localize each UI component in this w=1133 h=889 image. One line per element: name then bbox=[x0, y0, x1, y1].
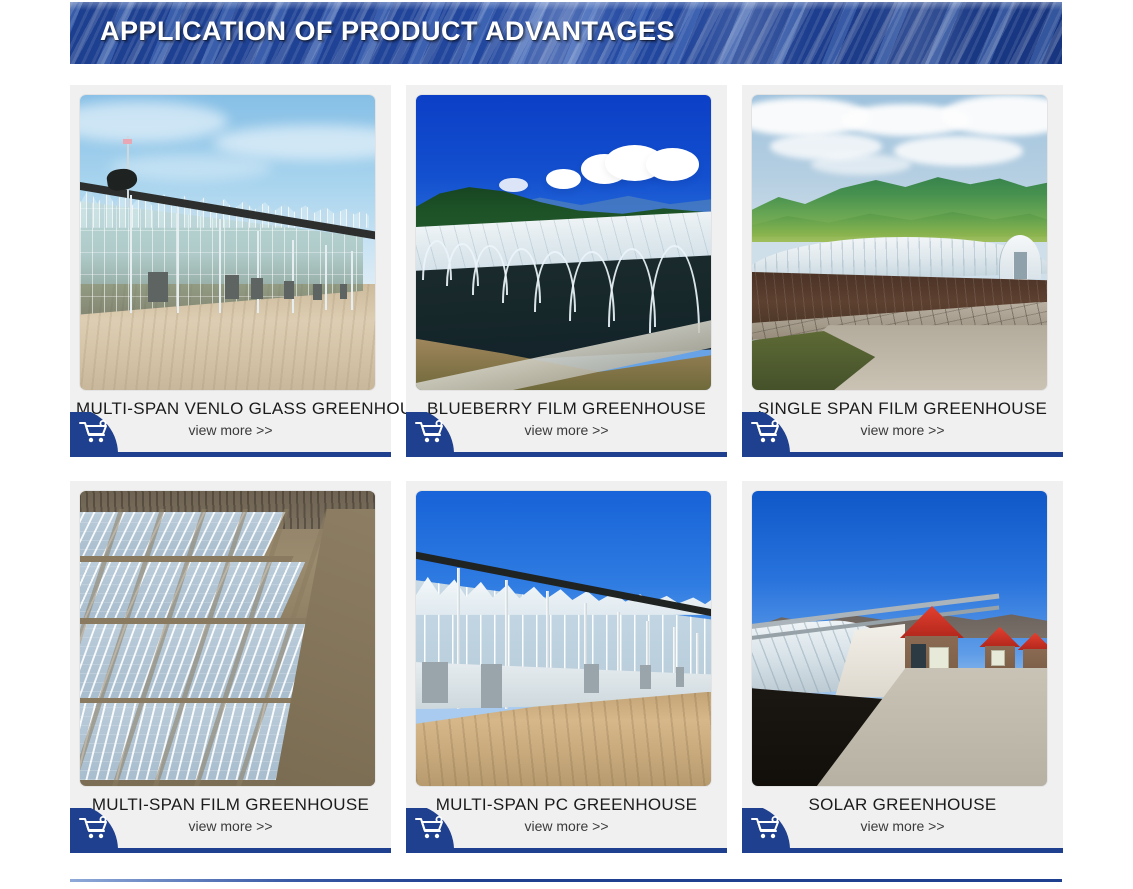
card-image-wrap bbox=[406, 85, 727, 390]
product-grid: MULTI-SPAN VENLO GLASS GREENHOUSE view m… bbox=[70, 85, 1063, 877]
card-image-wrap bbox=[742, 85, 1063, 390]
shopping-cart-icon bbox=[751, 420, 781, 444]
product-card-single-span-film[interactable]: SINGLE SPAN FILM GREENHOUSE view more >> bbox=[742, 85, 1063, 457]
product-card-title: MULTI-SPAN PC GREENHOUSE bbox=[406, 786, 727, 815]
product-card-solar[interactable]: SOLAR GREENHOUSE view more >> bbox=[742, 481, 1063, 853]
card-image-wrap bbox=[742, 481, 1063, 786]
add-to-cart-button[interactable] bbox=[742, 808, 790, 848]
shopping-cart-icon bbox=[415, 420, 445, 444]
view-more-link[interactable]: view more >> bbox=[742, 419, 1063, 452]
card-image-wrap bbox=[70, 85, 391, 390]
view-more-link[interactable]: view more >> bbox=[70, 419, 391, 452]
product-card-multi-span-pc[interactable]: MULTI-SPAN PC GREENHOUSE view more >> bbox=[406, 481, 727, 853]
shopping-cart-icon bbox=[79, 816, 109, 840]
product-card-title: MULTI-SPAN FILM GREENHOUSE bbox=[70, 786, 391, 815]
product-row-1: MULTI-SPAN VENLO GLASS GREENHOUSE view m… bbox=[70, 85, 1063, 457]
product-card-multi-span-film[interactable]: MULTI-SPAN FILM GREENHOUSE view more >> bbox=[70, 481, 391, 853]
view-more-link[interactable]: view more >> bbox=[406, 815, 727, 848]
add-to-cart-button[interactable] bbox=[70, 412, 118, 452]
product-image-solar[interactable] bbox=[752, 491, 1047, 786]
add-to-cart-button[interactable] bbox=[70, 808, 118, 848]
product-image-multi-span-pc[interactable] bbox=[416, 491, 711, 786]
view-more-link[interactable]: view more >> bbox=[742, 815, 1063, 848]
product-image-blueberry-film[interactable] bbox=[416, 95, 711, 390]
product-card-title: MULTI-SPAN VENLO GLASS GREENHOUSE bbox=[70, 390, 391, 419]
card-image-wrap bbox=[70, 481, 391, 786]
product-card-venlo-glass[interactable]: MULTI-SPAN VENLO GLASS GREENHOUSE view m… bbox=[70, 85, 391, 457]
product-image-multi-span-film[interactable] bbox=[80, 491, 375, 786]
product-row-2: MULTI-SPAN FILM GREENHOUSE view more >> bbox=[70, 481, 1063, 853]
product-image-single-span-film[interactable] bbox=[752, 95, 1047, 390]
shopping-cart-icon bbox=[79, 420, 109, 444]
product-card-title: BLUEBERRY FILM GREENHOUSE bbox=[406, 390, 727, 419]
shopping-cart-icon bbox=[415, 816, 445, 840]
bottom-divider bbox=[70, 879, 1062, 882]
product-image-venlo-glass[interactable] bbox=[80, 95, 375, 390]
add-to-cart-button[interactable] bbox=[406, 412, 454, 452]
add-to-cart-button[interactable] bbox=[406, 808, 454, 848]
view-more-link[interactable]: view more >> bbox=[406, 419, 727, 452]
card-image-wrap bbox=[406, 481, 727, 786]
section-banner: APPLICATION OF PRODUCT ADVANTAGES bbox=[70, 2, 1062, 64]
product-card-title: SOLAR GREENHOUSE bbox=[742, 786, 1063, 815]
add-to-cart-button[interactable] bbox=[742, 412, 790, 452]
product-advantages-page: APPLICATION OF PRODUCT ADVANTAGES bbox=[0, 0, 1133, 889]
shopping-cart-icon bbox=[751, 816, 781, 840]
page-title: APPLICATION OF PRODUCT ADVANTAGES bbox=[100, 16, 675, 47]
view-more-link[interactable]: view more >> bbox=[70, 815, 391, 848]
product-card-blueberry-film[interactable]: BLUEBERRY FILM GREENHOUSE view more >> bbox=[406, 85, 727, 457]
product-card-title: SINGLE SPAN FILM GREENHOUSE bbox=[742, 390, 1063, 419]
